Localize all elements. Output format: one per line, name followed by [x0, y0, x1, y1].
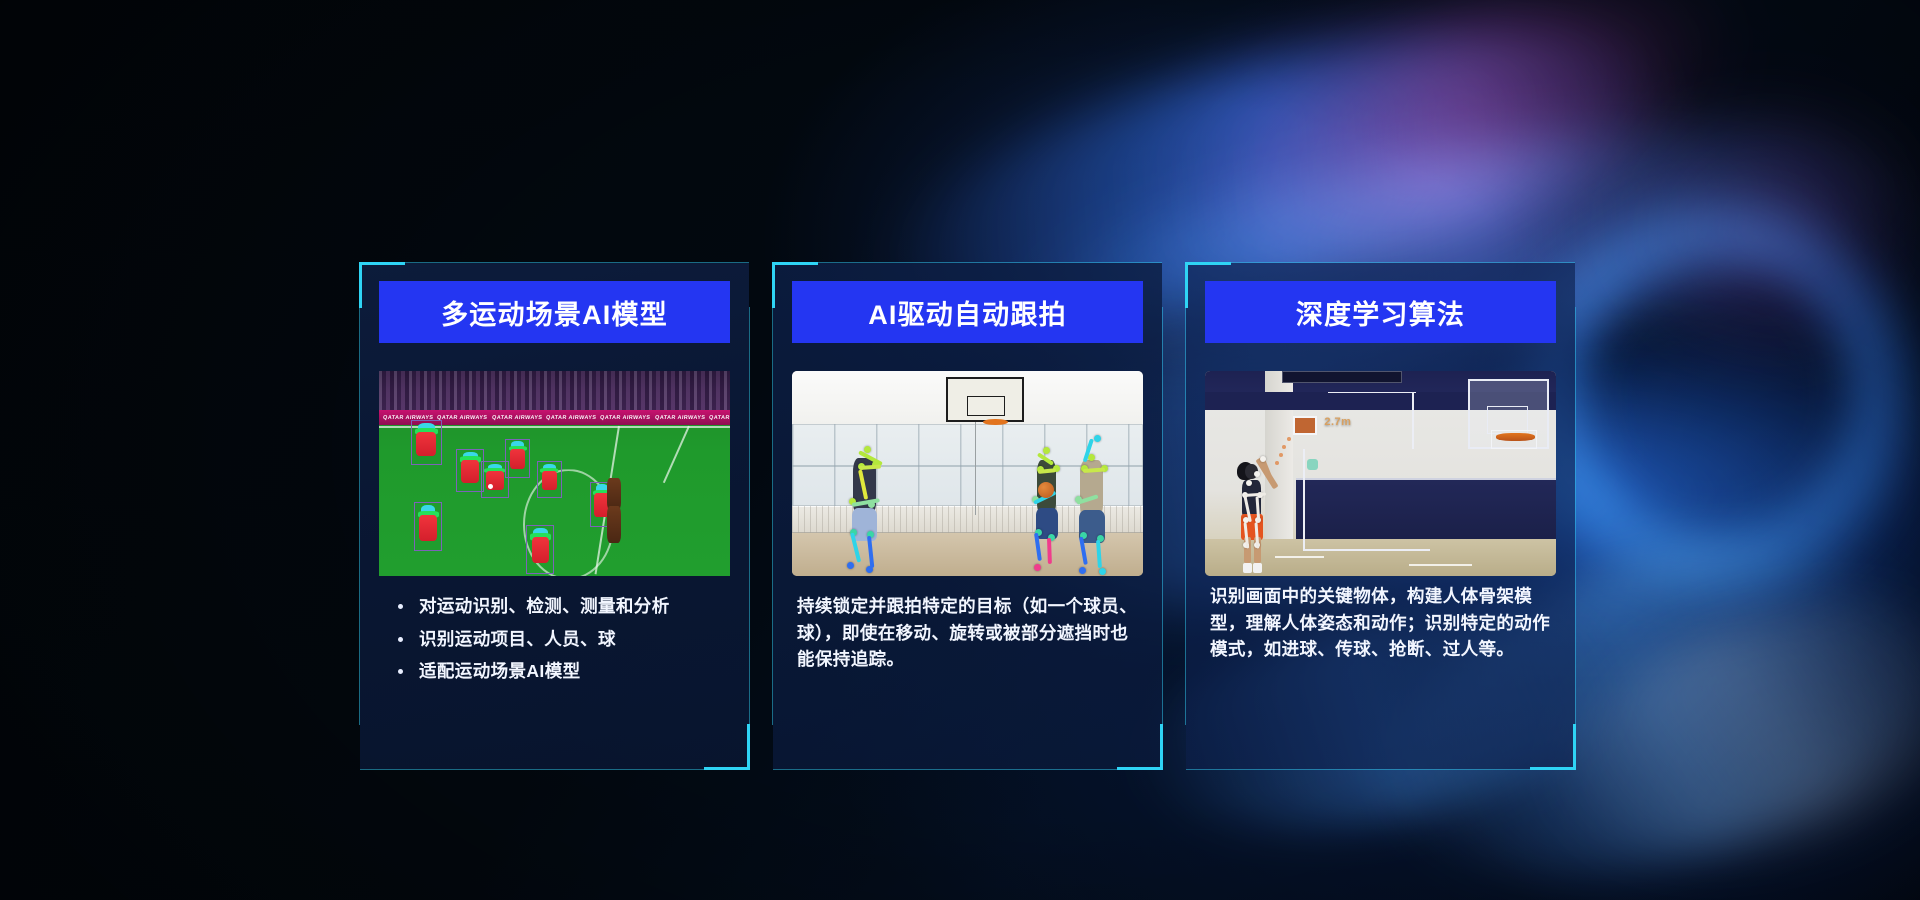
list-item: 对运动识别、检测、测量和分析	[391, 593, 730, 620]
sponsor-banner-text: QATAR AIRWAYS	[542, 415, 597, 421]
backboard	[946, 377, 1023, 422]
card-title: AI驱动自动跟拍	[868, 293, 1067, 332]
feature-bullet-list: 对运动识别、检测、测量和分析 识别运动项目、人员、球 适配运动场景AI模型	[391, 593, 730, 685]
basketball	[1038, 482, 1054, 498]
detection-box	[414, 502, 442, 551]
player-sock	[1243, 563, 1252, 573]
player-sock	[1253, 563, 1262, 573]
hoop-tracking-box	[1491, 430, 1537, 448]
object-tag	[1307, 459, 1318, 470]
trajectory-line	[1412, 392, 1414, 449]
card-header: 深度学习算法	[1205, 281, 1556, 343]
card-description: 识别画面中的关键物体，构建人体骨架模型，理解人体姿态和动作；识别特定的动作模式，…	[1210, 583, 1553, 663]
scoreboard	[1282, 371, 1401, 383]
card-description: 持续锁定并跟拍特定的目标（如一个球员、球），即使在移动、旋转或被部分遮挡时也能保…	[797, 593, 1140, 673]
trajectory-line	[1303, 549, 1429, 551]
court-scene: 2.7m	[1205, 371, 1556, 576]
feature-card-multi-sport-ai-model[interactable]: 多运动场景AI模型 QATAR AIRWAYS QATAR AIRWAYS QA…	[360, 263, 749, 769]
card-header: 多运动场景AI模型	[379, 281, 730, 343]
list-item: 适配运动场景AI模型	[391, 658, 730, 685]
floor-marking	[1409, 564, 1472, 566]
pose-skeleton	[841, 445, 897, 572]
pose-skeleton	[1066, 435, 1122, 574]
bone	[1096, 540, 1102, 568]
card-edge-right	[749, 307, 750, 769]
list-item: 识别运动项目、人员、球	[391, 626, 730, 653]
feature-card-row: 多运动场景AI模型 QATAR AIRWAYS QATAR AIRWAYS QA…	[360, 263, 1575, 769]
card-header: AI驱动自动跟拍	[792, 281, 1143, 343]
keypoint	[1254, 471, 1260, 477]
detection-box	[526, 525, 554, 574]
wall-pad	[1296, 478, 1556, 540]
hoop-pole	[975, 422, 977, 514]
sponsor-banner-text: QATAR AIRWAYS	[596, 415, 651, 421]
soccer-scene: QATAR AIRWAYS QATAR AIRWAYS QATAR AIRWAY…	[379, 371, 730, 576]
pitch-line	[663, 426, 689, 483]
player-skeleton	[1230, 457, 1286, 572]
keypoint	[847, 562, 854, 569]
detection-box	[505, 439, 530, 478]
trajectory-line	[1328, 392, 1416, 394]
basketball-pose-preview[interactable]	[792, 371, 1143, 576]
trajectory-line	[1303, 449, 1305, 552]
keypoint	[1043, 447, 1050, 454]
keypoint	[1094, 435, 1101, 442]
sponsor-banner-text: QATAR AIRWAYS	[650, 415, 705, 421]
card-title: 深度学习算法	[1296, 293, 1465, 332]
card-body: 识别画面中的关键物体，构建人体骨架模型，理解人体姿态和动作；识别特定的动作模式，…	[1210, 583, 1553, 739]
gym-scene	[792, 371, 1143, 576]
keypoint	[1260, 456, 1266, 462]
feature-card-ai-auto-tracking[interactable]: AI驱动自动跟拍	[773, 263, 1162, 769]
ball	[488, 484, 493, 489]
keypoint	[1034, 564, 1041, 571]
ball-tracking-box	[1293, 416, 1318, 434]
detection-box	[537, 461, 562, 498]
card-body: 持续锁定并跟拍特定的目标（如一个球员、球），即使在移动、旋转或被部分遮挡时也能保…	[797, 593, 1140, 739]
shooting-analysis-preview[interactable]: 2.7m	[1205, 371, 1556, 576]
distance-label: 2.7m	[1324, 416, 1351, 428]
soccer-detection-preview[interactable]: QATAR AIRWAYS QATAR AIRWAYS QATAR AIRWAY…	[379, 371, 730, 576]
card-body: 对运动识别、检测、测量和分析 识别运动项目、人员、球 适配运动场景AI模型	[391, 593, 730, 739]
keypoint	[1079, 567, 1086, 574]
card-title: 多运动场景AI模型	[441, 293, 668, 332]
bone	[1047, 538, 1052, 564]
detection-box	[411, 420, 443, 465]
sponsor-banner-text: QATAR AIRWAYS	[487, 415, 542, 421]
feature-card-deep-learning-algorithm[interactable]: 深度学习算法 2.	[1186, 263, 1575, 769]
card-edge-right	[1162, 307, 1163, 769]
player-untracked	[607, 506, 621, 543]
sponsor-banner-text: QATAR AIRWAYS	[705, 415, 730, 421]
